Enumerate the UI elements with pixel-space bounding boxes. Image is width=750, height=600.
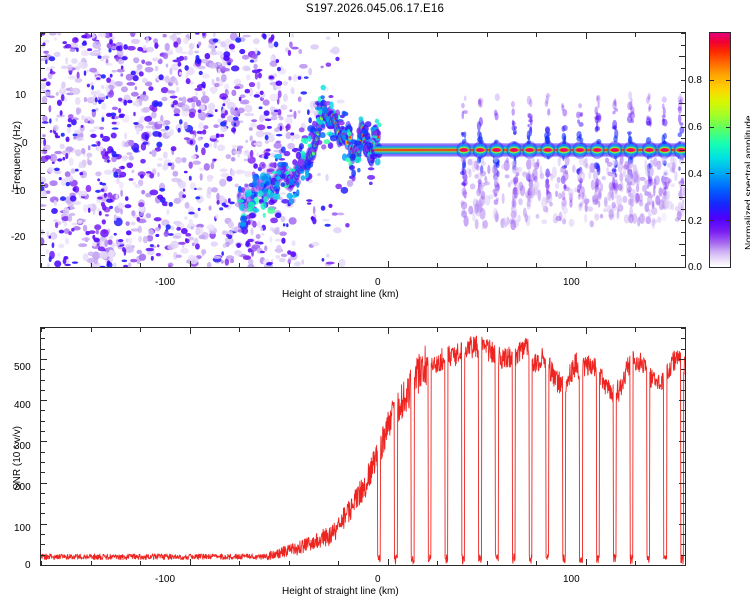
tick-mark bbox=[41, 503, 45, 504]
tick-mark bbox=[41, 544, 45, 545]
tick-mark bbox=[681, 173, 685, 174]
tick-mark bbox=[239, 561, 240, 565]
tick-mark bbox=[41, 338, 45, 339]
tick-mark bbox=[41, 162, 45, 163]
tick-mark bbox=[140, 561, 141, 565]
tick-mark bbox=[91, 33, 92, 37]
tick-mark bbox=[679, 197, 685, 198]
tick-mark bbox=[338, 328, 339, 332]
tick-mark bbox=[338, 263, 339, 267]
tick-mark bbox=[681, 349, 685, 350]
tick-mark bbox=[681, 220, 685, 221]
snr-line bbox=[41, 336, 685, 564]
tick-mark bbox=[41, 452, 45, 453]
tick-mark bbox=[681, 390, 685, 391]
tick-mark bbox=[679, 56, 685, 57]
colorbar-tick-1: 0.2 bbox=[688, 216, 702, 227]
tick-mark bbox=[685, 561, 686, 565]
tick-mark bbox=[41, 421, 45, 422]
tick-mark bbox=[681, 544, 685, 545]
spec-ytick-20: 20 bbox=[15, 44, 26, 55]
snr-xtick-100: 100 bbox=[563, 574, 580, 585]
tick-mark bbox=[681, 472, 685, 473]
tick-mark bbox=[41, 197, 47, 198]
tick-mark bbox=[289, 33, 290, 37]
tick-mark bbox=[41, 390, 45, 391]
colorbar-tick-4: 0.8 bbox=[688, 75, 702, 86]
tick-mark bbox=[586, 261, 587, 267]
tick-mark bbox=[536, 33, 537, 37]
tick-mark bbox=[239, 33, 240, 37]
tick-mark bbox=[709, 267, 714, 268]
tick-mark bbox=[41, 209, 45, 210]
tick-mark bbox=[190, 33, 191, 39]
tick-mark bbox=[41, 369, 45, 370]
tick-mark bbox=[635, 328, 636, 332]
tick-mark bbox=[437, 33, 438, 37]
snr-xtick-0: 0 bbox=[375, 574, 381, 585]
tick-mark bbox=[41, 472, 45, 473]
tick-mark bbox=[681, 232, 685, 233]
tick-mark bbox=[41, 524, 47, 525]
colorbar-tick-0: 0.0 bbox=[688, 262, 702, 273]
tick-mark bbox=[41, 115, 45, 116]
tick-mark bbox=[41, 534, 45, 535]
tick-mark bbox=[681, 452, 685, 453]
tick-mark bbox=[91, 328, 92, 332]
tick-mark bbox=[586, 328, 587, 334]
snr-xtick-neg100: -100 bbox=[155, 574, 175, 585]
tick-mark bbox=[681, 410, 685, 411]
tick-mark bbox=[681, 209, 685, 210]
snr-ytick-500: 500 bbox=[14, 362, 31, 373]
tick-mark bbox=[437, 561, 438, 565]
tick-mark bbox=[41, 267, 45, 268]
tick-mark bbox=[536, 263, 537, 267]
snr-ytick-400: 400 bbox=[14, 400, 31, 411]
spectrogram-panel bbox=[40, 32, 686, 268]
tick-mark bbox=[709, 127, 714, 128]
snr-trace bbox=[41, 328, 685, 565]
tick-mark bbox=[681, 462, 685, 463]
tick-mark bbox=[681, 127, 685, 128]
colorbar-tick-3: 0.6 bbox=[688, 122, 702, 133]
tick-mark bbox=[681, 328, 685, 329]
tick-mark bbox=[41, 45, 45, 46]
tick-mark bbox=[437, 263, 438, 267]
spec-xtick-100: 100 bbox=[563, 277, 580, 288]
tick-mark bbox=[726, 127, 731, 128]
tick-mark bbox=[536, 561, 537, 565]
tick-mark bbox=[41, 441, 47, 442]
tick-mark bbox=[338, 33, 339, 37]
tick-mark bbox=[487, 263, 488, 267]
tick-mark bbox=[681, 380, 685, 381]
tick-mark bbox=[437, 328, 438, 332]
tick-mark bbox=[388, 559, 389, 565]
colorbar-axis-label: Normalized spectral amplitude bbox=[744, 115, 750, 250]
tick-mark bbox=[338, 561, 339, 565]
tick-mark bbox=[681, 503, 685, 504]
tick-mark bbox=[681, 431, 685, 432]
tick-mark bbox=[41, 138, 45, 139]
tick-mark bbox=[685, 328, 686, 332]
tick-mark bbox=[190, 261, 191, 267]
tick-mark bbox=[41, 127, 45, 128]
tick-mark bbox=[681, 267, 685, 268]
snr-panel bbox=[40, 327, 686, 566]
tick-mark bbox=[681, 338, 685, 339]
tick-mark bbox=[91, 263, 92, 267]
tick-mark bbox=[679, 441, 685, 442]
tick-mark bbox=[388, 261, 389, 267]
tick-mark bbox=[679, 244, 685, 245]
tick-mark bbox=[41, 410, 45, 411]
tick-mark bbox=[41, 56, 47, 57]
tick-mark bbox=[679, 103, 685, 104]
tick-mark bbox=[41, 483, 47, 484]
snr-ytick-0: 0 bbox=[25, 560, 31, 571]
tick-mark bbox=[239, 263, 240, 267]
tick-mark bbox=[41, 80, 45, 81]
tick-mark bbox=[41, 68, 45, 69]
tick-mark bbox=[635, 263, 636, 267]
tick-mark bbox=[140, 328, 141, 332]
tick-mark bbox=[41, 359, 47, 360]
tick-mark bbox=[681, 138, 685, 139]
tick-mark bbox=[536, 328, 537, 332]
tick-mark bbox=[140, 263, 141, 267]
tick-mark bbox=[726, 220, 731, 221]
tick-mark bbox=[41, 400, 47, 401]
tick-mark bbox=[41, 232, 45, 233]
tick-mark bbox=[709, 220, 714, 221]
tick-mark bbox=[586, 33, 587, 39]
tick-mark bbox=[681, 369, 685, 370]
figure-canvas: S197.2026.045.06.17.E16 20 10 0 -10 -20 … bbox=[0, 0, 750, 600]
spec-xtick-0: 0 bbox=[375, 277, 381, 288]
tick-mark bbox=[586, 559, 587, 565]
tick-mark bbox=[41, 349, 45, 350]
tick-mark bbox=[388, 328, 389, 334]
tick-mark bbox=[681, 493, 685, 494]
tick-mark bbox=[681, 45, 685, 46]
tick-mark bbox=[41, 328, 45, 329]
tick-mark bbox=[41, 555, 45, 556]
tick-mark bbox=[41, 244, 47, 245]
tick-mark bbox=[679, 483, 685, 484]
tick-mark bbox=[289, 328, 290, 332]
tick-mark bbox=[681, 185, 685, 186]
tick-mark bbox=[487, 328, 488, 332]
tick-mark bbox=[726, 173, 731, 174]
spectrogram-x-axis-label: Height of straight line (km) bbox=[282, 289, 399, 300]
tick-mark bbox=[41, 255, 45, 256]
tick-mark bbox=[190, 559, 191, 565]
spectrogram-image bbox=[41, 33, 685, 267]
tick-mark bbox=[681, 115, 685, 116]
tick-mark bbox=[681, 513, 685, 514]
tick-mark bbox=[41, 380, 45, 381]
tick-mark bbox=[681, 68, 685, 69]
tick-mark bbox=[681, 555, 685, 556]
tick-mark bbox=[289, 263, 290, 267]
tick-mark bbox=[726, 267, 731, 268]
snr-x-axis-label: Height of straight line (km) bbox=[282, 586, 399, 597]
tick-mark bbox=[681, 255, 685, 256]
tick-mark bbox=[681, 421, 685, 422]
tick-mark bbox=[41, 173, 45, 174]
tick-mark bbox=[679, 524, 685, 525]
tick-mark bbox=[685, 263, 686, 267]
spectrogram-y-axis-label: Frequency (Hz) bbox=[12, 121, 23, 190]
colorbar-gradient bbox=[709, 32, 731, 268]
tick-mark bbox=[41, 150, 47, 151]
spec-ytick-10: 10 bbox=[15, 90, 26, 101]
colorbar-tick-2: 0.4 bbox=[688, 169, 702, 180]
tick-mark bbox=[289, 561, 290, 565]
tick-mark bbox=[41, 565, 47, 566]
spec-ytick-neg20: -20 bbox=[11, 232, 25, 243]
spec-xtick-neg100: -100 bbox=[155, 277, 175, 288]
tick-mark bbox=[140, 33, 141, 37]
tick-mark bbox=[679, 150, 685, 151]
tick-mark bbox=[487, 561, 488, 565]
tick-mark bbox=[635, 33, 636, 37]
tick-mark bbox=[41, 92, 45, 93]
tick-mark bbox=[726, 80, 731, 81]
tick-mark bbox=[41, 33, 45, 34]
tick-mark bbox=[709, 80, 714, 81]
tick-mark bbox=[41, 513, 45, 514]
tick-mark bbox=[41, 103, 47, 104]
figure-title: S197.2026.045.06.17.E16 bbox=[0, 3, 750, 15]
tick-mark bbox=[190, 328, 191, 334]
tick-mark bbox=[679, 565, 685, 566]
tick-mark bbox=[388, 33, 389, 39]
tick-mark bbox=[685, 33, 686, 37]
tick-mark bbox=[239, 328, 240, 332]
tick-mark bbox=[679, 400, 685, 401]
tick-mark bbox=[487, 33, 488, 37]
snr-ytick-100: 100 bbox=[14, 523, 31, 534]
tick-mark bbox=[41, 185, 45, 186]
tick-mark bbox=[41, 431, 45, 432]
tick-mark bbox=[681, 162, 685, 163]
tick-mark bbox=[635, 561, 636, 565]
tick-mark bbox=[41, 220, 45, 221]
tick-mark bbox=[91, 561, 92, 565]
tick-mark bbox=[681, 534, 685, 535]
tick-mark bbox=[709, 173, 714, 174]
tick-mark bbox=[41, 493, 45, 494]
snr-y-axis-label: SNR (10 * v/v) bbox=[12, 426, 23, 490]
tick-mark bbox=[679, 359, 685, 360]
tick-mark bbox=[41, 462, 45, 463]
tick-mark bbox=[681, 33, 685, 34]
tick-mark bbox=[681, 92, 685, 93]
tick-mark bbox=[681, 80, 685, 81]
